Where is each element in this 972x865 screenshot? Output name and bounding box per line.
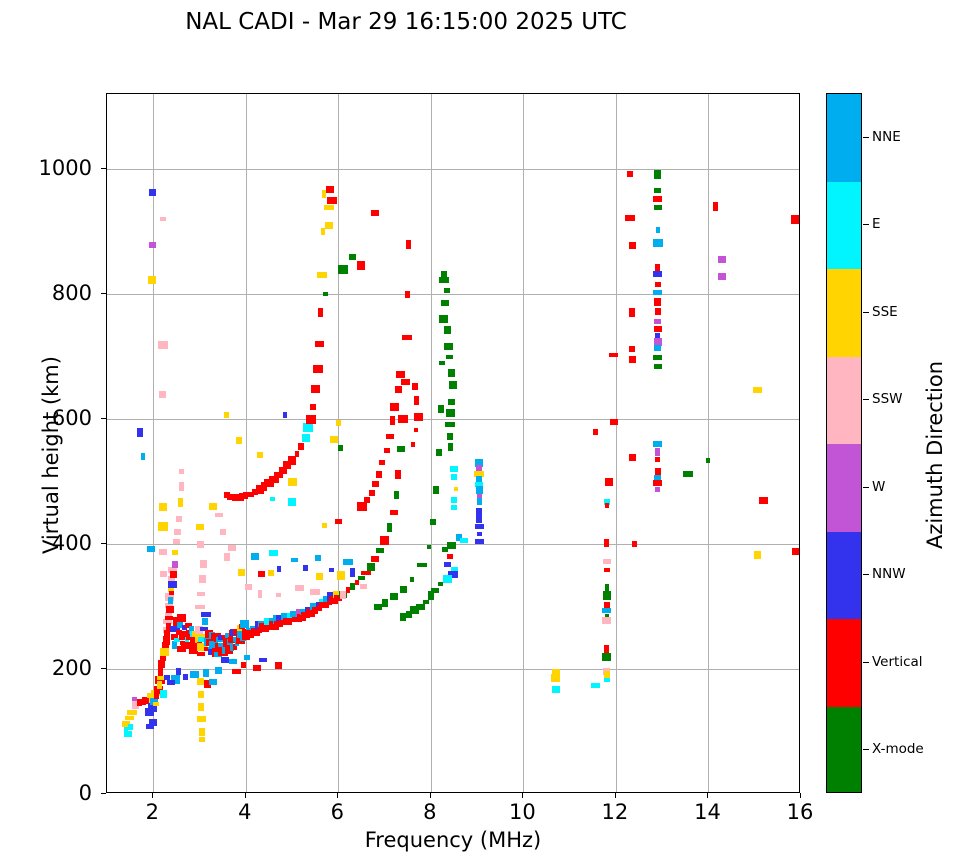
y-tick-mark	[101, 793, 106, 794]
echo-point	[357, 261, 365, 270]
echo-point	[448, 399, 455, 405]
echo-point	[438, 405, 444, 413]
echo-point	[372, 481, 379, 487]
echo-point	[655, 282, 661, 287]
echo-point	[447, 554, 453, 559]
echo-point	[258, 571, 265, 577]
echo-point	[551, 674, 560, 682]
colorbar-tick	[863, 574, 869, 575]
echo-point	[400, 586, 407, 593]
echo-point	[604, 678, 610, 682]
echo-point	[358, 576, 365, 580]
y-tick-mark	[101, 293, 106, 294]
echo-point	[653, 196, 662, 202]
echo-point	[444, 288, 450, 293]
echo-point	[401, 379, 410, 385]
echo-point	[414, 396, 419, 405]
echo-point	[412, 383, 418, 390]
echo-point	[160, 217, 166, 221]
echo-point	[604, 568, 610, 572]
x-tick-mark	[245, 793, 246, 798]
echo-point	[476, 516, 482, 523]
echo-point	[251, 553, 259, 560]
echo-point	[245, 584, 252, 590]
y-tick-mark	[101, 668, 106, 669]
echo-point	[406, 240, 411, 249]
echo-point	[170, 571, 177, 578]
echo-point	[224, 553, 230, 561]
echo-point	[160, 655, 166, 661]
echo-point	[310, 404, 316, 410]
echo-point	[288, 478, 297, 486]
echo-point	[460, 538, 468, 543]
colorbar-segment-nne[interactable]	[827, 94, 861, 182]
echo-point	[605, 478, 613, 486]
echo-point	[627, 171, 633, 177]
echo-point	[654, 364, 662, 369]
x-tick-mark	[800, 793, 801, 798]
echo-point	[215, 667, 222, 674]
echo-point	[632, 541, 637, 547]
echo-point	[447, 542, 456, 549]
echo-point	[177, 614, 186, 622]
echo-point	[390, 403, 399, 411]
gridline-horizontal	[107, 294, 799, 295]
echo-point	[361, 571, 371, 575]
echo-point	[442, 547, 448, 552]
echo-point	[451, 497, 457, 503]
colorbar-label-nnw: NNW	[872, 566, 906, 582]
echo-point	[165, 616, 173, 620]
echo-point	[169, 591, 174, 595]
echo-point	[303, 423, 313, 432]
echo-point	[337, 571, 345, 580]
x-tick-label: 6	[331, 800, 344, 824]
echo-point	[653, 355, 662, 360]
echo-point	[446, 409, 455, 417]
echo-point	[427, 545, 431, 549]
colorbar-tick	[863, 662, 869, 663]
echo-point	[343, 559, 353, 565]
echo-point	[625, 215, 635, 221]
echo-point	[197, 716, 206, 722]
echo-point	[137, 428, 143, 437]
x-tick-mark	[337, 793, 338, 798]
echo-point	[253, 665, 261, 671]
echo-point	[367, 563, 375, 571]
x-tick-label: 4	[238, 800, 251, 824]
echo-point	[174, 529, 181, 535]
echo-point	[433, 486, 439, 494]
echo-point	[199, 575, 206, 583]
echo-point	[240, 620, 249, 628]
x-tick-label: 2	[146, 800, 159, 824]
plot-area[interactable]	[106, 93, 800, 793]
echo-point	[654, 298, 661, 306]
x-tick-mark	[152, 793, 153, 798]
echo-point	[158, 341, 168, 349]
echo-point	[439, 277, 449, 283]
echo-point	[653, 441, 662, 447]
echo-point	[153, 702, 159, 706]
echo-point	[653, 271, 662, 277]
echo-point	[236, 437, 242, 444]
echo-point	[224, 412, 229, 418]
echo-point	[718, 273, 726, 280]
echo-point	[172, 550, 178, 555]
colorbar[interactable]	[826, 93, 862, 793]
y-tick-label: 800	[0, 281, 92, 305]
echo-point	[477, 532, 482, 536]
echo-point	[324, 205, 334, 210]
echo-point	[232, 669, 241, 674]
echo-point	[395, 470, 401, 479]
echo-point	[454, 487, 458, 491]
echo-point	[447, 433, 453, 440]
colorbar-segment-e[interactable]	[827, 182, 861, 270]
echo-point	[371, 556, 379, 562]
echo-point	[176, 516, 182, 522]
x-tick-label: 16	[787, 800, 814, 824]
echo-point	[179, 482, 184, 491]
echo-point	[147, 546, 155, 552]
colorbar-segment-nnw[interactable]	[827, 532, 861, 620]
echo-point	[713, 202, 718, 211]
echo-point	[168, 597, 173, 604]
echo-point	[390, 416, 395, 425]
echo-point	[602, 608, 611, 613]
echo-point	[436, 449, 442, 456]
echo-point	[629, 346, 635, 352]
echo-point	[753, 387, 762, 393]
echo-point	[792, 548, 800, 555]
echo-point	[360, 584, 367, 589]
echo-point	[654, 345, 661, 351]
echo-point	[202, 618, 208, 625]
echo-point	[406, 611, 412, 618]
gridline-horizontal	[107, 419, 799, 420]
colorbar-label-vertical: Vertical	[872, 654, 923, 670]
echo-point	[759, 497, 768, 504]
colorbar-segment-vertical[interactable]	[827, 619, 861, 707]
echo-point	[394, 491, 399, 499]
echo-point	[380, 536, 389, 545]
echo-point	[475, 539, 484, 544]
echo-point	[400, 613, 406, 621]
colorbar-tick	[863, 312, 869, 313]
echo-point	[295, 451, 299, 457]
echo-point	[357, 502, 367, 511]
echo-point	[439, 361, 445, 365]
echo-point	[196, 524, 204, 530]
x-tick-label: 10	[509, 800, 536, 824]
echo-point	[167, 680, 175, 685]
echo-point	[754, 551, 761, 559]
echo-point	[476, 508, 482, 516]
echo-point	[276, 593, 281, 597]
echo-point	[229, 659, 237, 664]
echo-point	[270, 497, 275, 501]
echo-point	[374, 604, 382, 610]
colorbar-label-sse: SSE	[872, 304, 898, 320]
echo-point	[295, 585, 304, 591]
echo-point	[444, 343, 453, 350]
gridline-vertical	[616, 94, 617, 792]
colorbar-segment-x-mode[interactable]	[827, 707, 861, 794]
echo-point	[164, 675, 170, 680]
echo-point	[386, 434, 394, 439]
echo-point	[172, 641, 177, 649]
echo-point	[197, 592, 205, 596]
echo-point	[201, 612, 211, 617]
ionogram-figure: NAL CADI - Mar 29 16:15:00 2025 UTC 2468…	[0, 0, 972, 865]
echo-point	[269, 550, 278, 556]
echo-point	[160, 648, 169, 656]
x-tick-mark	[430, 793, 431, 798]
echo-point	[313, 365, 323, 373]
echo-point	[283, 412, 287, 418]
colorbar-label-nne: NNE	[872, 129, 901, 145]
echo-point	[604, 539, 609, 547]
colorbar-label-e: E	[872, 216, 881, 232]
echo-point	[163, 636, 170, 645]
echo-point	[125, 716, 134, 720]
echo-point	[410, 577, 414, 582]
echo-point	[444, 317, 448, 322]
y-axis-label: Virtual height (km)	[39, 305, 63, 605]
echo-point	[325, 222, 333, 229]
colorbar-tick	[863, 137, 869, 138]
echo-point	[311, 385, 320, 393]
gridline-vertical	[431, 94, 432, 792]
echo-point	[446, 355, 453, 359]
echo-point	[655, 487, 660, 492]
colorbar-segment-w[interactable]	[827, 444, 861, 532]
echo-point	[124, 731, 132, 737]
echo-point	[327, 197, 337, 204]
echo-point	[451, 474, 457, 480]
echo-point	[291, 558, 298, 562]
x-tick-mark	[615, 793, 616, 798]
echo-point	[417, 563, 427, 567]
y-tick-mark	[101, 168, 106, 169]
echo-point	[443, 575, 452, 583]
echo-point	[149, 719, 157, 726]
echo-point	[160, 571, 167, 577]
echo-point	[199, 728, 205, 736]
gridline-horizontal	[107, 669, 799, 670]
echo-point	[379, 460, 385, 465]
echo-point	[655, 457, 660, 462]
page-title: NAL CADI - Mar 29 16:15:00 2025 UTC	[0, 9, 812, 35]
echo-point	[338, 265, 348, 274]
colorbar-label-x-mode: X-mode	[872, 741, 924, 757]
echo-point	[602, 653, 611, 661]
echo-point	[654, 170, 661, 179]
echo-point	[653, 239, 663, 247]
echo-point	[238, 569, 245, 576]
echo-point	[654, 319, 661, 324]
echo-point	[321, 228, 325, 235]
echo-point	[791, 215, 800, 224]
echo-point	[349, 254, 356, 260]
gridline-vertical	[246, 94, 247, 792]
colorbar-tick	[863, 749, 869, 750]
echo-point	[605, 503, 609, 508]
echo-point	[430, 519, 436, 525]
echo-point	[329, 568, 334, 572]
x-tick-mark	[522, 793, 523, 798]
echo-point	[288, 456, 296, 465]
echo-point	[376, 548, 384, 553]
echo-point	[593, 429, 598, 435]
echo-point	[302, 434, 310, 442]
echo-point	[396, 371, 405, 378]
echo-point	[629, 308, 635, 317]
echo-point	[315, 341, 324, 347]
echo-point	[259, 658, 267, 662]
echo-point	[655, 308, 661, 315]
echo-point	[444, 326, 451, 334]
echo-point	[220, 529, 226, 535]
echo-point	[288, 498, 296, 506]
echo-point	[335, 519, 342, 524]
y-tick-label: 0	[0, 781, 92, 805]
echo-point	[244, 655, 250, 660]
echo-point	[158, 668, 163, 676]
x-tick-mark	[707, 793, 708, 798]
echo-point	[215, 513, 223, 517]
colorbar-tick	[863, 399, 869, 400]
echo-point	[199, 737, 205, 742]
echo-point	[602, 617, 611, 624]
echo-point	[173, 539, 180, 544]
echo-point	[706, 458, 710, 463]
echo-point	[317, 272, 327, 278]
echo-point	[141, 453, 145, 460]
echo-point	[128, 724, 133, 730]
colorbar-segment-ssw[interactable]	[827, 357, 861, 445]
echo-point	[448, 443, 453, 451]
echo-point	[397, 446, 405, 452]
echo-point	[159, 503, 167, 511]
echo-point	[411, 442, 415, 447]
echo-point	[405, 291, 410, 298]
echo-point	[310, 589, 320, 595]
echo-point	[228, 545, 236, 551]
echo-point	[306, 415, 316, 424]
echo-point	[683, 471, 693, 477]
y-tick-mark	[101, 543, 106, 544]
echo-point	[387, 523, 392, 532]
echo-point	[318, 308, 323, 317]
echo-point	[444, 562, 451, 567]
colorbar-tick	[863, 487, 869, 488]
echo-point	[203, 669, 209, 677]
echo-point	[158, 522, 168, 531]
echo-point	[629, 454, 636, 461]
echo-point	[159, 391, 166, 398]
echo-point	[629, 242, 636, 249]
echo-point	[428, 591, 434, 600]
echo-point	[164, 630, 170, 636]
echo-point	[198, 703, 204, 711]
colorbar-segment-sse[interactable]	[827, 269, 861, 357]
echo-point	[656, 227, 660, 233]
echo-point	[149, 242, 156, 248]
echo-point	[450, 466, 458, 472]
echo-point	[298, 443, 304, 450]
echo-point	[338, 445, 343, 451]
echo-point	[168, 581, 177, 588]
echo-point	[414, 428, 418, 432]
echo-point	[603, 559, 611, 564]
echo-point	[241, 662, 246, 668]
echo-point	[477, 498, 482, 505]
echo-point	[376, 471, 382, 478]
echo-point	[158, 660, 165, 668]
echo-point	[655, 448, 660, 456]
echo-point	[159, 549, 167, 555]
echo-point	[197, 678, 204, 685]
echo-point	[654, 326, 662, 332]
y-tick-label: 200	[0, 656, 92, 680]
echo-point	[258, 590, 262, 598]
echo-point	[160, 690, 167, 698]
echo-point	[402, 335, 412, 340]
echo-point	[603, 591, 611, 600]
echo-point	[149, 189, 156, 196]
echo-point	[277, 566, 281, 572]
echo-point	[414, 413, 423, 421]
echo-point	[197, 541, 204, 548]
echo-point	[197, 652, 205, 656]
echo-point	[552, 686, 560, 693]
echo-point	[451, 505, 457, 510]
echo-point	[591, 683, 600, 688]
colorbar-title: Azimuth Direction	[923, 305, 947, 605]
echo-point	[395, 386, 402, 393]
gridline-vertical	[338, 94, 339, 792]
echo-point	[355, 580, 359, 585]
echo-point	[209, 679, 217, 685]
echo-point	[195, 605, 205, 609]
echo-point	[179, 469, 184, 474]
echo-point	[336, 420, 341, 426]
echo-point	[653, 480, 662, 486]
x-tick-label: 14	[694, 800, 721, 824]
echo-point	[221, 657, 229, 663]
echo-point	[209, 503, 217, 510]
echo-point	[148, 276, 156, 284]
echo-point	[350, 568, 355, 577]
echo-point	[610, 419, 618, 425]
echo-point	[190, 671, 199, 678]
echo-point	[718, 256, 726, 263]
echo-point	[654, 188, 661, 193]
echo-point	[653, 290, 662, 295]
echo-point	[322, 523, 327, 528]
echo-point	[315, 555, 321, 561]
echo-point	[326, 186, 334, 193]
colorbar-label-w: W	[872, 479, 885, 495]
gridline-vertical	[523, 94, 524, 792]
echo-point	[275, 662, 282, 669]
echo-point	[172, 561, 178, 568]
echo-point	[178, 498, 183, 507]
echo-point	[382, 599, 388, 607]
colorbar-label-ssw: SSW	[872, 391, 903, 407]
